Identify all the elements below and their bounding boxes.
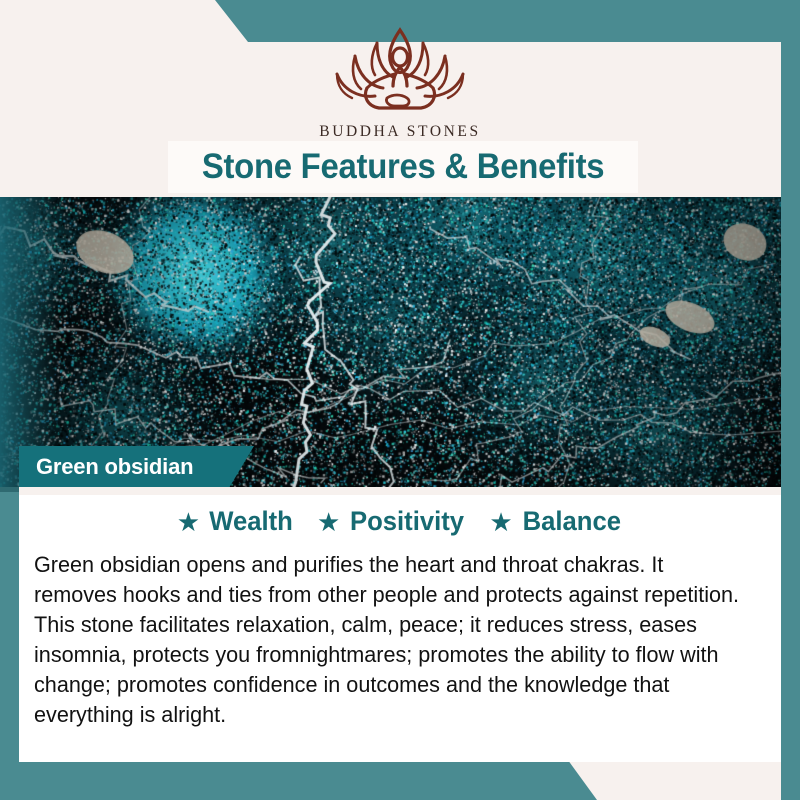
benefits-row: ★ Wealth ★ Positivity ★ Balance bbox=[19, 506, 781, 537]
benefit-label: Positivity bbox=[350, 506, 464, 537]
title-band: Stone Features & Benefits bbox=[168, 141, 638, 193]
star-icon: ★ bbox=[177, 509, 200, 535]
description-card: ★ Wealth ★ Positivity ★ Balance Green ob… bbox=[19, 487, 781, 762]
stone-photo bbox=[0, 197, 781, 487]
frame-left-accent bbox=[0, 470, 19, 800]
brand-name-text: BUDDHA STONES bbox=[0, 123, 800, 141]
stone-info-poster: BUDDHA STONES Stone Features & Benefits … bbox=[0, 0, 800, 800]
lotus-meditation-icon bbox=[325, 22, 475, 120]
stone-name-banner: Green obsidian bbox=[19, 446, 254, 488]
benefit-item-balance: ★ Balance bbox=[489, 506, 623, 537]
description-paragraph-1: Green obsidian opens and purifies the he… bbox=[34, 550, 748, 610]
benefit-item-wealth: ★ Wealth bbox=[177, 506, 295, 537]
star-icon: ★ bbox=[489, 509, 512, 535]
card-top-strip bbox=[19, 487, 781, 495]
stone-photo-canvas bbox=[0, 197, 781, 487]
description-text: Green obsidian opens and purifies the he… bbox=[34, 550, 748, 730]
benefit-label: Wealth bbox=[209, 506, 293, 537]
benefit-label: Balance bbox=[522, 506, 620, 537]
brand-logo: BUDDHA STONES bbox=[0, 22, 800, 141]
page-title: Stone Features & Benefits bbox=[202, 147, 604, 187]
description-paragraph-2: This stone facilitates relaxation, calm,… bbox=[34, 610, 748, 730]
stone-name-text: Green obsidian bbox=[36, 454, 193, 480]
frame-bottom-accent bbox=[0, 756, 800, 800]
benefit-item-positivity: ★ Positivity bbox=[317, 506, 467, 537]
star-icon: ★ bbox=[317, 509, 340, 535]
